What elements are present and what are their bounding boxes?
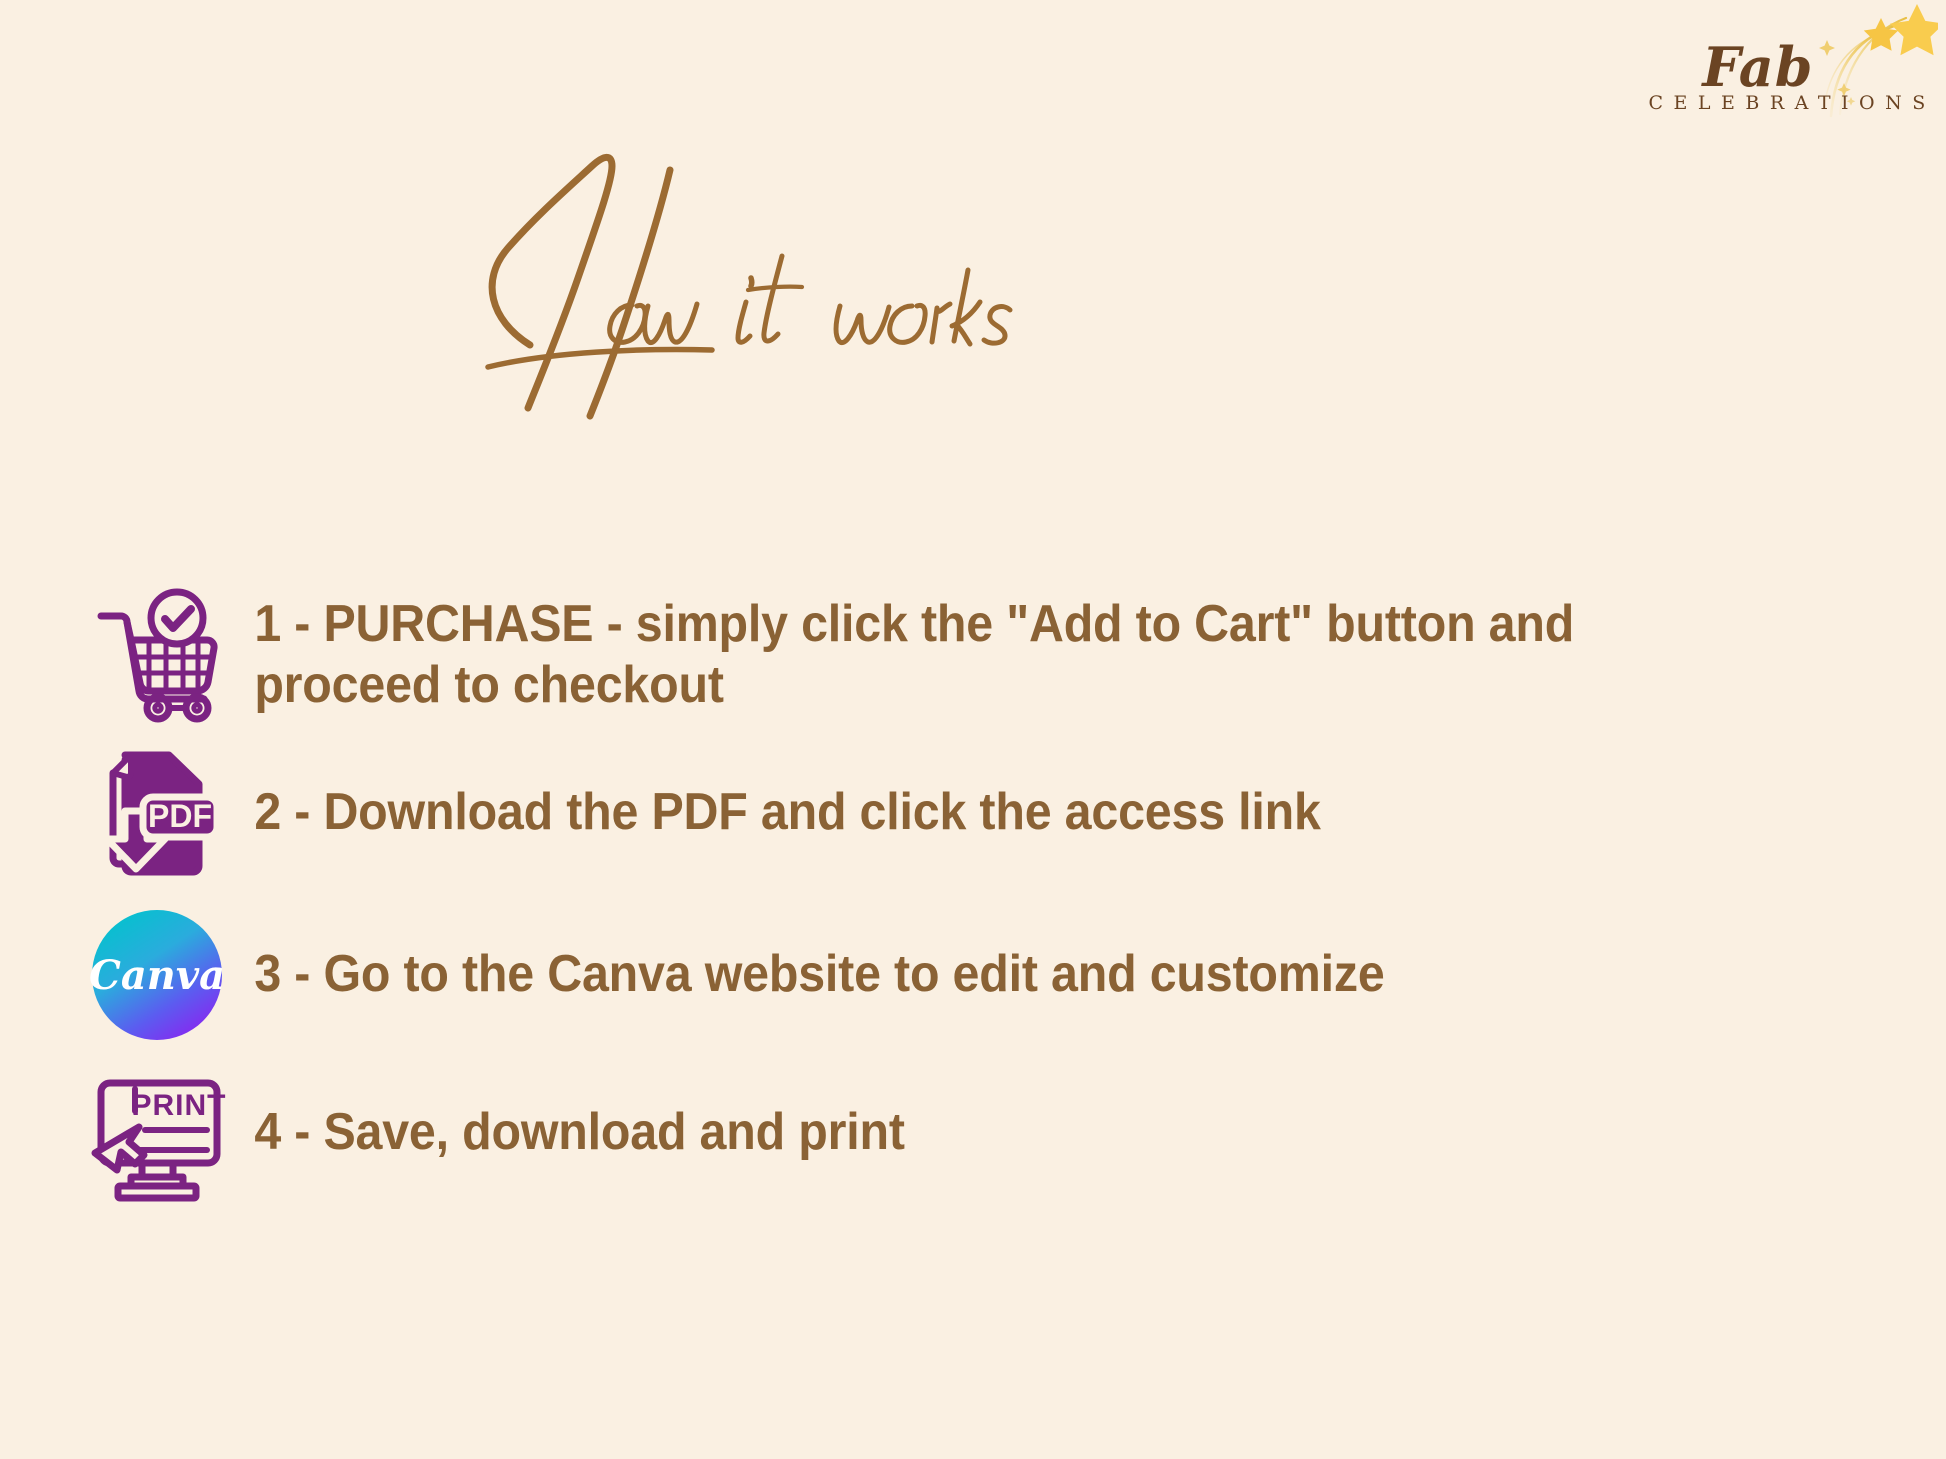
step-label: 1 - PURCHASE - simply click the "Add to …	[232, 578, 1767, 717]
brand-logo: Fab CELEBRATIONS	[1638, 4, 1938, 122]
list-item: PDF 2 - Download the PDF and click the a…	[82, 738, 1882, 888]
steps-list: 1 - PURCHASE - simply click the "Add to …	[82, 578, 1882, 1218]
list-item: 1 - PURCHASE - simply click the "Add to …	[82, 578, 1882, 728]
pdf-label: PDF	[148, 798, 212, 834]
shopping-cart-check-icon	[82, 578, 232, 728]
brand-name: Fab	[1638, 40, 1878, 94]
print-label: PRINT	[132, 1089, 227, 1122]
print-monitor-icon: PRINT	[82, 1062, 232, 1212]
pdf-download-icon: PDF	[82, 738, 232, 888]
step-label: 2 - Download the PDF and click the acces…	[232, 738, 1767, 843]
brand-tagline: CELEBRATIONS	[1638, 92, 1934, 114]
canva-logo-icon: Canva	[82, 900, 232, 1050]
page-title-script	[340, 130, 1060, 430]
list-item: Canva 3 - Go to the Canva website to edi…	[82, 900, 1882, 1050]
list-item: PRINT 4 - Save, download and print	[82, 1062, 1882, 1212]
step-label: 3 - Go to the Canva website to edit and …	[232, 900, 1767, 1005]
step-label: 4 - Save, download and print	[232, 1062, 1767, 1163]
page-title: How it works	[340, 130, 1060, 430]
canva-label: Canva	[89, 952, 225, 999]
